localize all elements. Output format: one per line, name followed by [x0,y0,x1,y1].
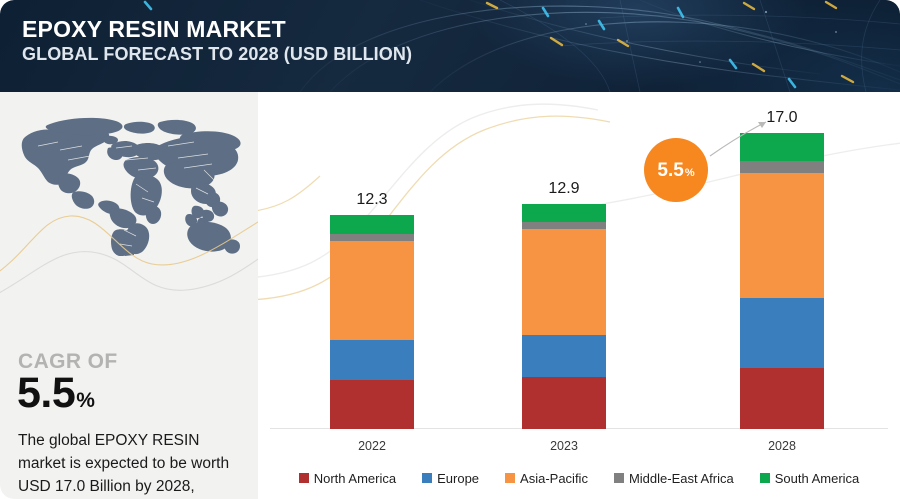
chart-area: 12.3202212.9202317.02028 5.5 % [258,92,900,499]
legend-swatch-icon [760,473,770,483]
cagr-value: 5.5 [17,369,75,418]
page-subtitle: GLOBAL FORECAST TO 2028 (USD BILLION) [22,45,412,65]
description-text: The global EPOXY RESIN market is expecte… [18,430,244,499]
legend-label: Middle-East Africa [629,471,734,486]
legend-item[interactable]: South America [760,471,860,486]
sidebar-decorative-curves [0,212,258,322]
legend-item[interactable]: Middle-East Africa [614,471,734,486]
legend-label: South America [775,471,860,486]
cagr-value-row: 5.5 % [17,369,95,418]
legend-item[interactable]: Asia-Pacific [505,471,588,486]
legend-label: North America [314,471,396,486]
legend-label: Asia-Pacific [520,471,588,486]
header-banner: EPOXY RESIN MARKET GLOBAL FORECAST TO 20… [0,0,900,92]
sidebar-panel: CAGR OF 5.5 % The global EPOXY RESIN mar… [0,92,258,499]
infographic-card: EPOXY RESIN MARKET GLOBAL FORECAST TO 20… [0,0,900,499]
legend-label: Europe [437,471,479,486]
legend-swatch-icon [614,473,624,483]
legend-item[interactable]: Europe [422,471,479,486]
callout-value: 5.5 [657,160,683,182]
page-title: EPOXY RESIN MARKET [22,17,412,42]
legend-swatch-icon [505,473,515,483]
header-text-block: EPOXY RESIN MARKET GLOBAL FORECAST TO 20… [22,17,412,65]
legend-swatch-icon [299,473,309,483]
callout-percent-symbol: % [685,167,695,179]
legend-swatch-icon [422,473,432,483]
cagr-callout-bubble: 5.5 % [644,138,708,202]
cagr-percent-symbol: % [76,389,95,413]
callout-connector-arrow [258,92,900,499]
chart-legend: North AmericaEuropeAsia-PacificMiddle-Ea… [258,465,900,491]
legend-item[interactable]: North America [299,471,396,486]
